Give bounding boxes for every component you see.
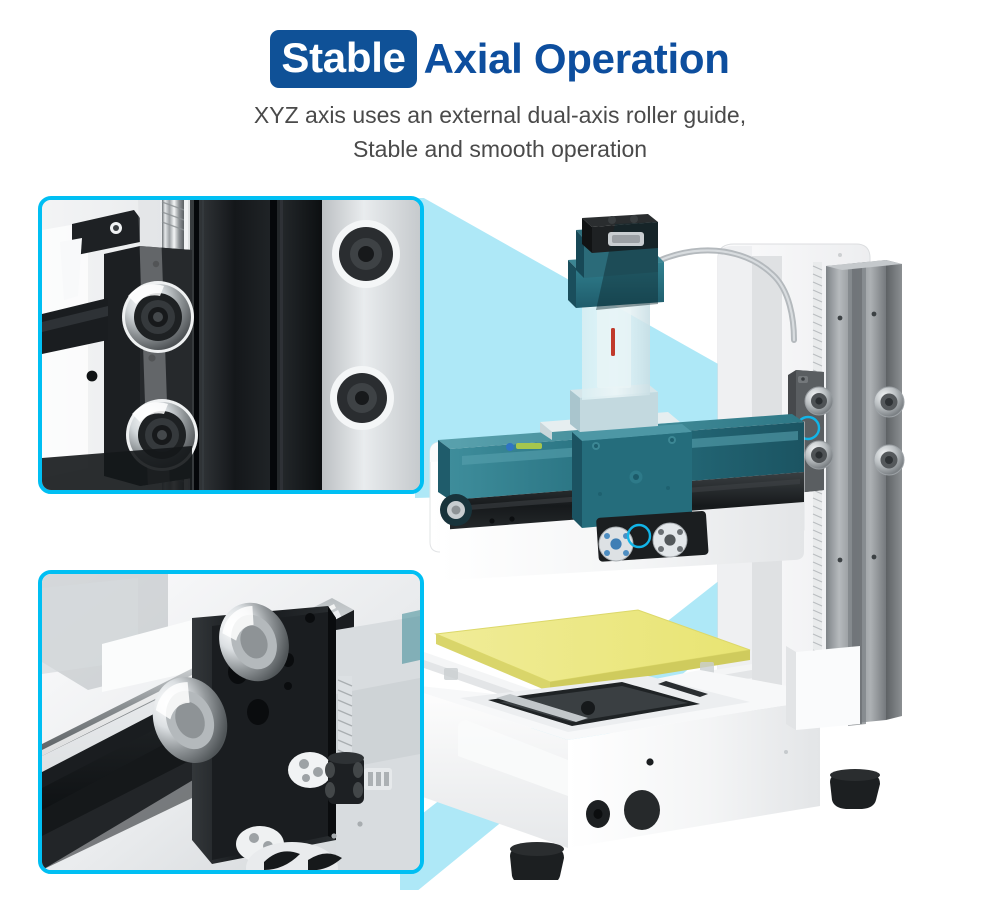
x-carriage [572, 424, 692, 528]
printer-illustration [400, 200, 1000, 880]
subtitle-line-1: XYZ axis uses an external dual-axis roll… [0, 99, 1000, 131]
title-rest: Axial Operation [417, 34, 730, 84]
base-enclosure [420, 670, 820, 848]
power-socket [586, 800, 610, 828]
usb-socket [624, 790, 660, 830]
x-belt-pulleys [596, 511, 709, 562]
z-roller-front-lower [805, 441, 833, 469]
roller-wheel-far-upper [332, 220, 400, 288]
page-title: StableAxial Operation [0, 30, 1000, 88]
z-roller-back-upper [874, 387, 904, 417]
extruder-stepper-motor [540, 214, 680, 440]
inset-z-axis-roller-detail[interactable] [38, 196, 424, 494]
roller-wheel-upper [122, 281, 194, 353]
z-roller-front-upper [805, 387, 833, 415]
header: StableAxial Operation XYZ axis uses an e… [0, 0, 1000, 185]
motor-connector [364, 768, 392, 790]
roller-wheel-far-lower [330, 366, 394, 430]
z-roller-back-lower [874, 445, 904, 475]
subtitle-line-2: Stable and smooth operation [0, 133, 1000, 165]
x-idler-pulley [440, 494, 472, 526]
pulley-right [653, 523, 687, 557]
page-root: StableAxial Operation XYZ axis uses an e… [0, 0, 1000, 915]
title-badge: Stable [270, 30, 416, 88]
z-motor-cover [786, 646, 860, 730]
inset-y-axis-roller-detail[interactable] [38, 570, 424, 874]
